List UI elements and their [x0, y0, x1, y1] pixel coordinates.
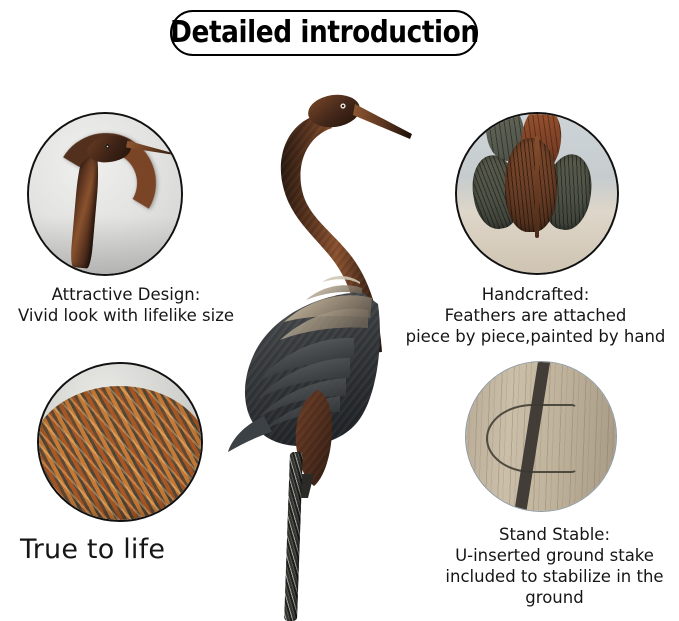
caption-attractive-design: Attractive Design: Vivid look with lifel…	[0, 284, 252, 326]
photo-inner-attractive-design	[29, 114, 181, 274]
page-title: Detailed introduction	[170, 18, 479, 48]
caption-true-to-life: True to life	[20, 534, 250, 566]
feather-centre	[505, 138, 557, 232]
photo-inner-true-to-life	[39, 364, 201, 520]
feather-shaft	[535, 136, 539, 238]
caption-stand-stable: Stand Stable: U-inserted ground stake in…	[430, 524, 679, 608]
photo-inner-stand-stable	[466, 362, 616, 511]
ground-stake-pole	[287, 452, 300, 621]
crane-pupil	[342, 105, 344, 107]
photo-attractive-design	[27, 112, 183, 276]
caption-handcrafted: Handcrafted: Feathers are attached piece…	[392, 284, 679, 347]
infographic-canvas: Detailed introduction	[0, 0, 679, 621]
photo-handcrafted	[455, 112, 619, 275]
page-title-badge: Detailed introduction	[170, 10, 478, 56]
photo-inner-handcrafted	[457, 114, 617, 273]
crane-tail	[228, 416, 272, 452]
crane-beak	[353, 104, 412, 139]
photo-true-to-life	[37, 362, 203, 522]
rusty-feather-mass	[39, 386, 201, 520]
pole-twist-texture	[284, 452, 303, 621]
photo-stand-stable	[465, 361, 617, 512]
